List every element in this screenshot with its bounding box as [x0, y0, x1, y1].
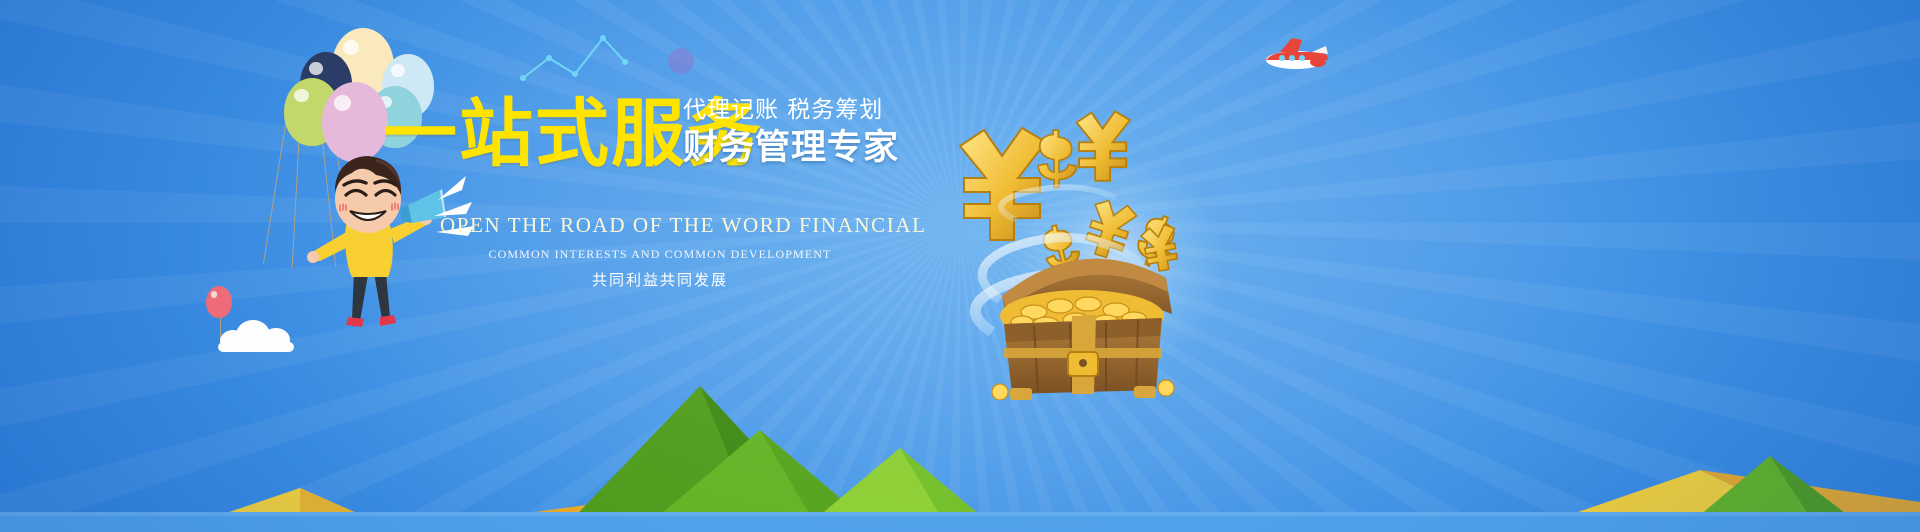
financial-service-hero-banner: 一站式服务 代理记账 税务筹划 财务管理专家 OPEN THE ROAD OF …: [0, 0, 1920, 532]
subtitle-english-main: OPEN THE ROAD OF THE WORD FINANCIAL: [440, 212, 880, 238]
yen-currency-symbol-icon: [960, 128, 1046, 240]
headline-side-wrap: 代理记账 税务筹划 财务管理专家: [683, 96, 943, 170]
subtitle-block: OPEN THE ROAD OF THE WORD FINANCIAL COMM…: [440, 212, 880, 291]
yen-currency-symbol-icon: [1077, 111, 1130, 180]
purple-bokeh-icon: [668, 48, 694, 74]
headline-side-line2: 财务管理专家: [683, 126, 943, 170]
airplane-icon: [1258, 36, 1330, 78]
dollar-currency-symbol-icon: [1038, 130, 1077, 187]
subtitle-english-small: COMMON INTERESTS AND COMMON DEVELOPMENT: [440, 244, 880, 264]
cloud-icon: [214, 318, 298, 350]
treasure-chest-with-gold-coins-icon: [930, 100, 1230, 400]
subtitle-chinese: 共同利益共同发展: [440, 269, 880, 291]
line-chart-doodle-icon: [519, 32, 629, 84]
headline-side-line1: 代理记账 税务筹划: [683, 96, 943, 124]
